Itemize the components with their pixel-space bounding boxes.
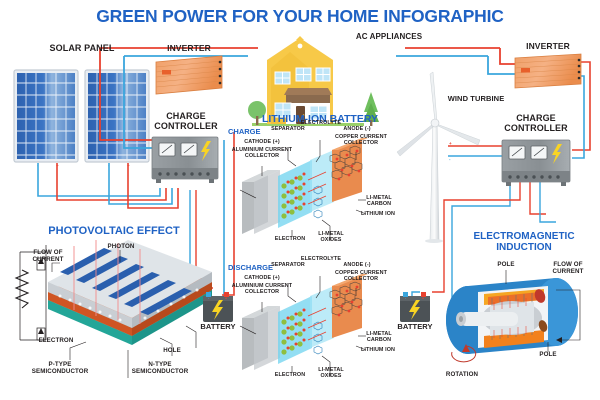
discharge-lithium-ion-label: LITHIUM ION [356, 348, 400, 354]
charge-separator-label: SEPARATOR [262, 127, 314, 133]
battery-right-label: BATTERY [393, 323, 437, 331]
pv-photon-label: PHOTON [100, 244, 142, 251]
wind-turbine-label: WIND TURBINE [440, 95, 512, 103]
photovoltaic-effect-heading: PHOTOVOLTAIC EFFECT [14, 226, 214, 238]
electromagnetic-induction-heading: ELECTROMAGNETIC INDUCTION [452, 232, 596, 254]
discharge-cathode-label: CATHODE (+) [236, 276, 288, 282]
artwork-layer: - + - + [0, 0, 600, 400]
gen-rotation-label: ROTATION [434, 372, 490, 379]
battery-left-graphic: - + [203, 292, 233, 322]
pv-n-type-label: N-TYPE SEMICONDUCTOR [122, 362, 198, 375]
svg-text:-: - [449, 157, 451, 162]
discharge-electrolyte-label: ELECTROLYTE [298, 257, 344, 263]
gen-flow-of-current-label: FLOW OF CURRENT [540, 262, 596, 275]
infographic-page: GREEN POWER FOR YOUR HOME INFOGRAPHIC [0, 0, 600, 400]
generator-graphic [446, 270, 580, 362]
pv-flow-of-current-label: FLOW OF CURRENT [20, 250, 76, 263]
discharge-electron-label: ELECTRON [268, 373, 312, 379]
charge-controller-left-graphic [152, 137, 218, 183]
charge-controller-left-label: CHARGE CONTROLLER [148, 112, 224, 131]
charge-electron-label: ELECTRON [268, 237, 312, 243]
charge-controller-right-label: CHARGE CONTROLLER [498, 114, 574, 133]
inverter-left-label: INVERTER [156, 44, 222, 53]
svg-text:+: + [225, 297, 227, 301]
solar-panel-label: SOLAR PANEL [14, 44, 150, 54]
pv-hole-label: HOLE [152, 348, 192, 355]
charge-aluminium-collector-label: ALUMINIUM CURRENT COLLECTOR [228, 148, 296, 160]
inverter-left-graphic [156, 56, 222, 94]
gen-pole-bottom-label: POLE [528, 352, 568, 359]
discharge-anode-label: ANODE (-) [338, 263, 376, 269]
discharge-li-metal-oxides-label: LI-METAL OXIDES [310, 368, 352, 380]
charge-cathode-label: CATHODE (+) [236, 140, 288, 146]
discharge-copper-collector-label: COPPER CURRENT COLLECTOR [330, 271, 392, 283]
inverter-right-graphic [515, 54, 581, 88]
pv-p-type-label: P-TYPE SEMICONDUCTOR [22, 362, 98, 375]
discharge-li-metal-carbon-label: LI-METAL CARBON [358, 332, 400, 344]
ac-appliances-label: AC APPLIANCES [345, 33, 433, 42]
charge-copper-collector-label: COPPER CURRENT COLLECTOR [330, 135, 392, 147]
charge-electrolyte-label: ELECTROLYTE [298, 121, 344, 127]
charge-lithium-ion-label: LITHIUM ION [356, 212, 400, 218]
charge-li-metal-oxides-label: LI-METAL OXIDES [310, 232, 352, 244]
solar-panel-graphic: - + - + [14, 70, 149, 168]
charge-controller-right-graphic [502, 140, 570, 186]
discharge-separator-label: SEPARATOR [262, 263, 314, 269]
charge-anode-label: ANODE (-) [338, 127, 376, 133]
gen-pole-top-label: POLE [486, 262, 526, 269]
charge-li-metal-carbon-label: LI-METAL CARBON [358, 196, 400, 208]
svg-text:+: + [422, 297, 424, 301]
inverter-right-label: INVERTER [515, 42, 581, 51]
battery-right-graphic: - + [400, 292, 430, 322]
pv-electron-label: ELECTRON [34, 338, 78, 345]
svg-text:+: + [449, 141, 452, 146]
battery-left-label: BATTERY [196, 323, 240, 331]
discharge-aluminium-collector-label: ALUMINIUM CURRENT COLLECTOR [228, 284, 296, 296]
